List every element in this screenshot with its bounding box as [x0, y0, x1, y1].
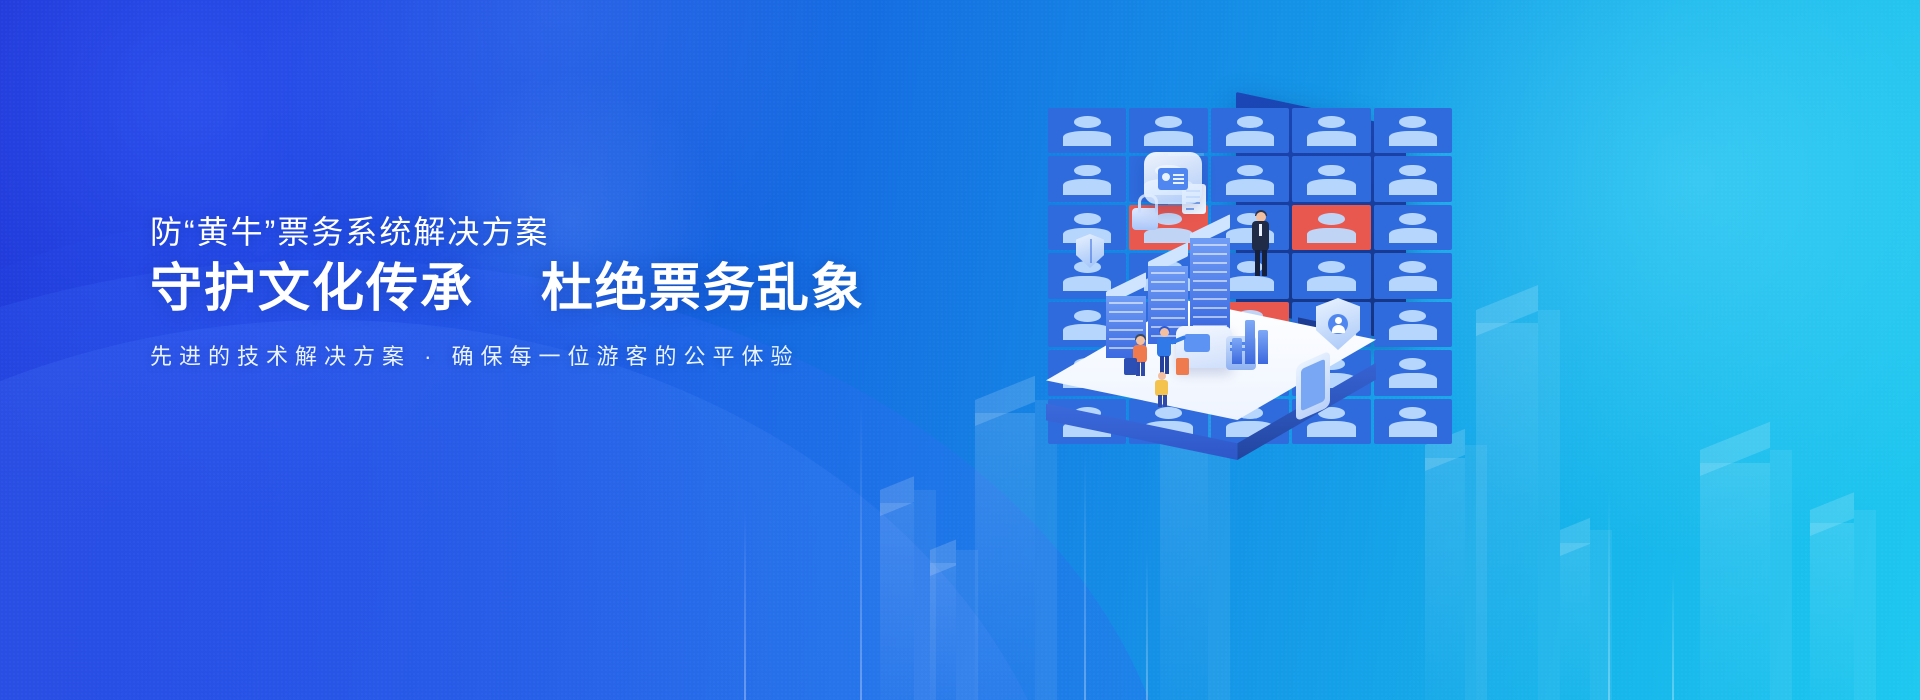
hero-banner: 防“黄牛”票务系统解决方案 守护文化传承 杜绝票务乱象 先进的技术解决方案 · … [0, 0, 1920, 700]
user-shield-person-icon [1328, 314, 1348, 334]
background-pillar [975, 400, 1035, 700]
illustration-isometric-scene [1040, 100, 1460, 460]
background-light-line [1608, 490, 1610, 700]
avatar-cell [1048, 108, 1126, 153]
rack-body [1190, 238, 1230, 330]
avatar-cell [1374, 350, 1452, 395]
background-light-line [1672, 570, 1674, 700]
background-pillar [1425, 445, 1465, 700]
background-pillar [1476, 310, 1538, 700]
figure-legs [1255, 250, 1260, 276]
chart-bar [1258, 330, 1268, 364]
background-pillar [930, 550, 956, 700]
banner-headline: 守护文化传承 杜绝票务乱象 [150, 258, 865, 321]
avatar-cell [1292, 108, 1370, 153]
server-rack [1190, 224, 1230, 330]
banner-headline-part-2: 杜绝票务乱象 [541, 260, 865, 318]
avatar-cell [1374, 205, 1452, 250]
avatar-cell [1048, 156, 1126, 201]
background-wave-upper [0, 320, 1080, 700]
background-pillar [1810, 510, 1854, 700]
chart-bar [1245, 320, 1255, 364]
figure-legs [1158, 395, 1162, 407]
avatar-cell [1374, 253, 1452, 298]
figure-tie [1259, 224, 1262, 236]
banner-subtitle: 先进的技术解决方案 · 确保每一位游客的公平体验 [150, 339, 865, 371]
background-light-line [860, 400, 862, 700]
figure-head [1160, 328, 1169, 337]
avatar-cell [1292, 205, 1370, 250]
avatar-cell [1211, 108, 1289, 153]
banner-kicker: 防“黄牛”票务系统解决方案 [150, 212, 865, 252]
suitcase-orange [1176, 358, 1189, 375]
avatar-cell [1292, 156, 1370, 201]
figure-head [1158, 372, 1166, 380]
avatar-cell [1374, 108, 1452, 153]
avatar-cell [1292, 253, 1370, 298]
chart-bar [1232, 338, 1242, 364]
background-light-line [1146, 550, 1148, 700]
suitcase-blue [1124, 358, 1137, 375]
figure-head [1136, 336, 1145, 345]
background-pillar [1560, 530, 1590, 700]
figure-body [1155, 380, 1168, 396]
avatar-cell [1374, 156, 1452, 201]
kiosk-screen [1184, 334, 1210, 352]
id-card-glyph-icon [1158, 168, 1188, 190]
banner-headline-part-1: 守护文化传承 [150, 260, 474, 318]
avatar-cell [1129, 108, 1207, 153]
avatar-cell [1211, 156, 1289, 201]
avatar-cell [1374, 399, 1452, 444]
avatar-cell [1374, 302, 1452, 347]
figure-body [1157, 337, 1171, 357]
background-light-line [1084, 450, 1086, 700]
banner-copy: 防“黄牛”票务系统解决方案 守护文化传承 杜绝票务乱象 先进的技术解决方案 · … [150, 212, 865, 371]
background-pillar [880, 490, 914, 700]
background-light-line [744, 510, 746, 700]
background-pillar [1700, 450, 1770, 700]
